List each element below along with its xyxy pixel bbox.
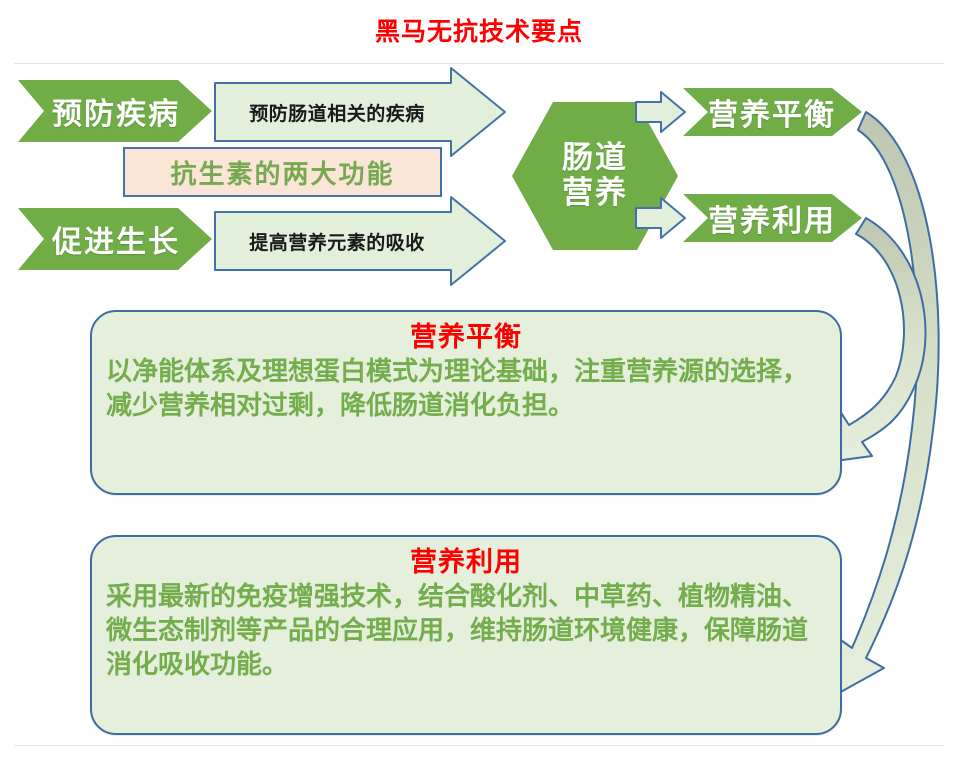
pentagon-prevent-disease[interactable] bbox=[18, 80, 212, 142]
block-arrow-right-icon-2[interactable] bbox=[215, 197, 505, 285]
pentagon-nutrition-balance[interactable] bbox=[683, 88, 862, 136]
detail-card-nutrition-balance[interactable]: 营养平衡 以净能体系及理想蛋白模式为理论基础，注重营养源的选择，减少营养相对过剩… bbox=[90, 310, 842, 495]
pentagon-promote-growth[interactable] bbox=[18, 208, 212, 270]
block-arrow-right-icon-1[interactable] bbox=[215, 68, 505, 156]
detail-card-2-title: 营养利用 bbox=[92, 548, 840, 578]
detail-card-1-title: 营养平衡 bbox=[92, 323, 840, 353]
note-box-antibiotic-functions[interactable] bbox=[124, 148, 441, 196]
detail-card-nutrition-utilization[interactable]: 营养利用 采用最新的免疫增强技术，结合酸化剂、中草药、植物精油、微生态制剂等产品… bbox=[90, 535, 842, 735]
pentagon-nutrition-utilization[interactable] bbox=[683, 194, 862, 242]
slide-canvas: 黑马无抗技术要点 bbox=[0, 0, 958, 757]
detail-card-1-body: 以净能体系及理想蛋白模式为理论基础，注重营养源的选择，减少营养相对过剩，降低肠道… bbox=[92, 353, 840, 424]
detail-card-2-body: 采用最新的免疫增强技术，结合酸化剂、中草药、植物精油、微生态制剂等产品的合理应用… bbox=[92, 578, 840, 683]
